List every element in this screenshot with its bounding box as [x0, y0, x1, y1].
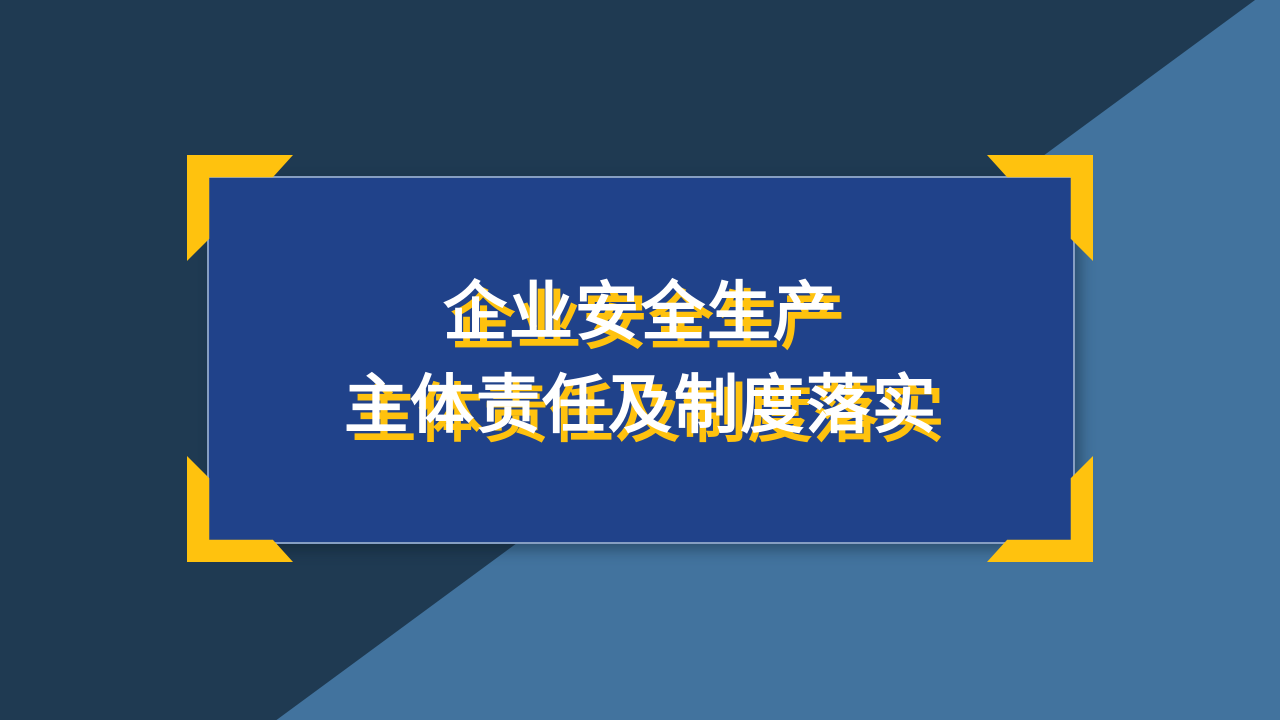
slide-title: 企业安全生产 企业安全生产 主体责任及制度落实 主体责任及制度落实 — [207, 176, 1075, 544]
title-line-2-text: 主体责任及制度落实 — [344, 369, 938, 443]
title-line-2: 主体责任及制度落实 主体责任及制度落实 — [344, 372, 938, 441]
title-line-1-text: 企业安全生产 — [443, 276, 839, 350]
title-line-1: 企业安全生产 企业安全生产 — [443, 279, 839, 348]
presentation-slide: 企业安全生产 企业安全生产 主体责任及制度落实 主体责任及制度落实 — [0, 0, 1280, 720]
